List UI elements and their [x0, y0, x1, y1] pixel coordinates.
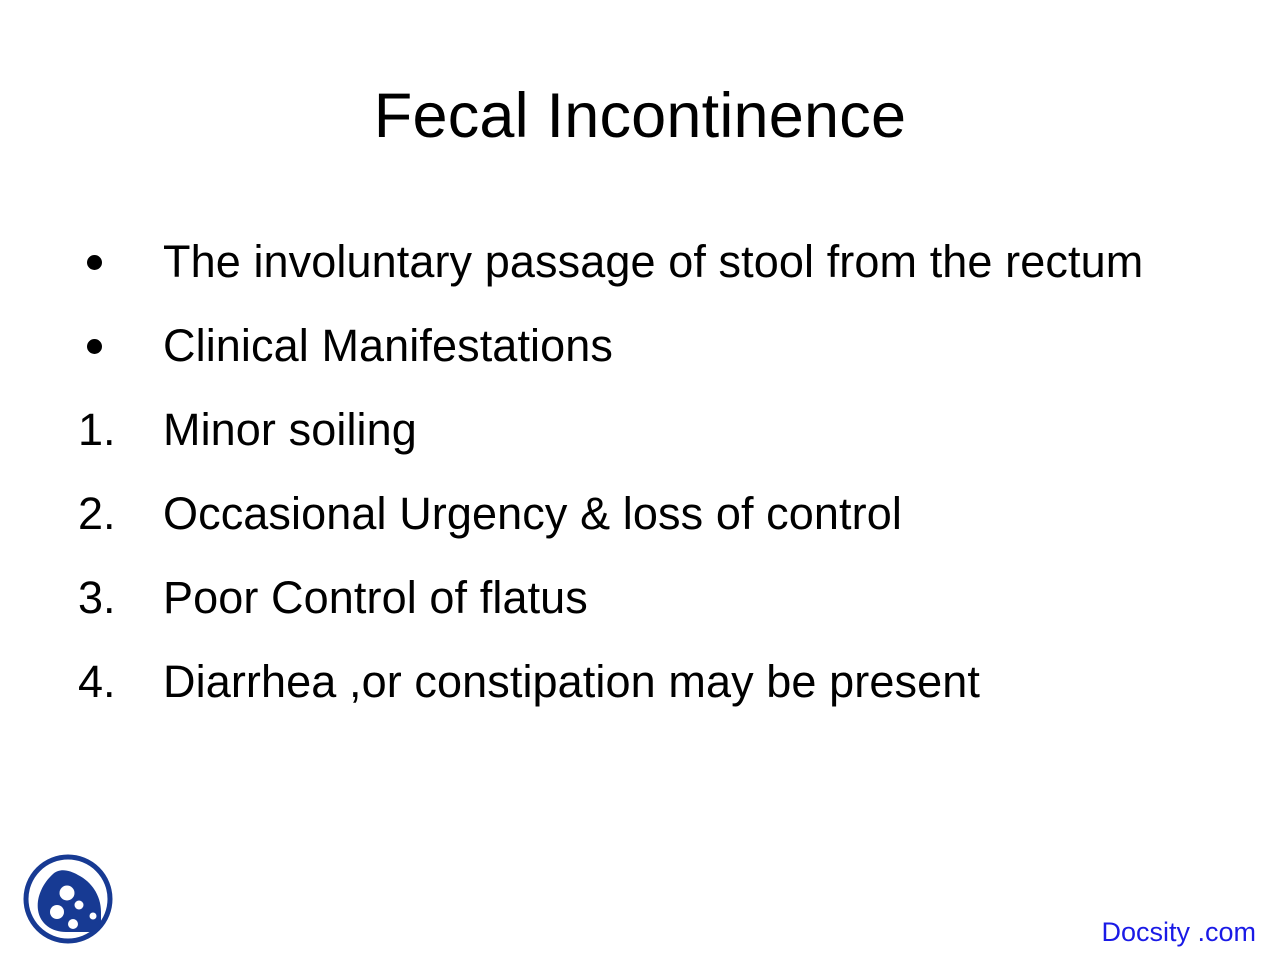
list-item-text: Occasional Urgency & loss of control [163, 480, 1200, 547]
list-item: 2. Occasional Urgency & loss of control [70, 480, 1200, 547]
number-marker: 4. [70, 648, 163, 715]
page-title: Fecal Incontinence [0, 78, 1280, 154]
list-item-text: Diarrhea ,or constipation may be present [163, 648, 1200, 715]
list-item: Clinical Manifestations [70, 312, 1200, 379]
slide-canvas: Fecal Incontinence The involuntary passa… [0, 0, 1280, 960]
docsity-watermark: Docsity .com [1101, 916, 1256, 948]
list-item: 1. Minor soiling [70, 396, 1200, 463]
bullet-dot-icon [87, 255, 102, 270]
list-item-text: Poor Control of flatus [163, 564, 1200, 631]
number-marker: 1. [70, 396, 163, 463]
list-item-text: Minor soiling [163, 396, 1200, 463]
bullet-dot-icon [87, 339, 102, 354]
number-marker: 2. [70, 480, 163, 547]
list-item-text: The involuntary passage of stool from th… [163, 228, 1200, 295]
bullet-marker-icon [70, 312, 163, 354]
list-item: 3. Poor Control of flatus [70, 564, 1200, 631]
bullet-marker-icon [70, 228, 163, 270]
number-marker: 3. [70, 564, 163, 631]
list-item: 4. Diarrhea ,or constipation may be pres… [70, 648, 1200, 715]
list-item-text: Clinical Manifestations [163, 312, 1200, 379]
list-item: The involuntary passage of stool from th… [70, 228, 1200, 295]
docsity-logo-icon [22, 852, 118, 948]
content-list: The involuntary passage of stool from th… [70, 228, 1200, 715]
